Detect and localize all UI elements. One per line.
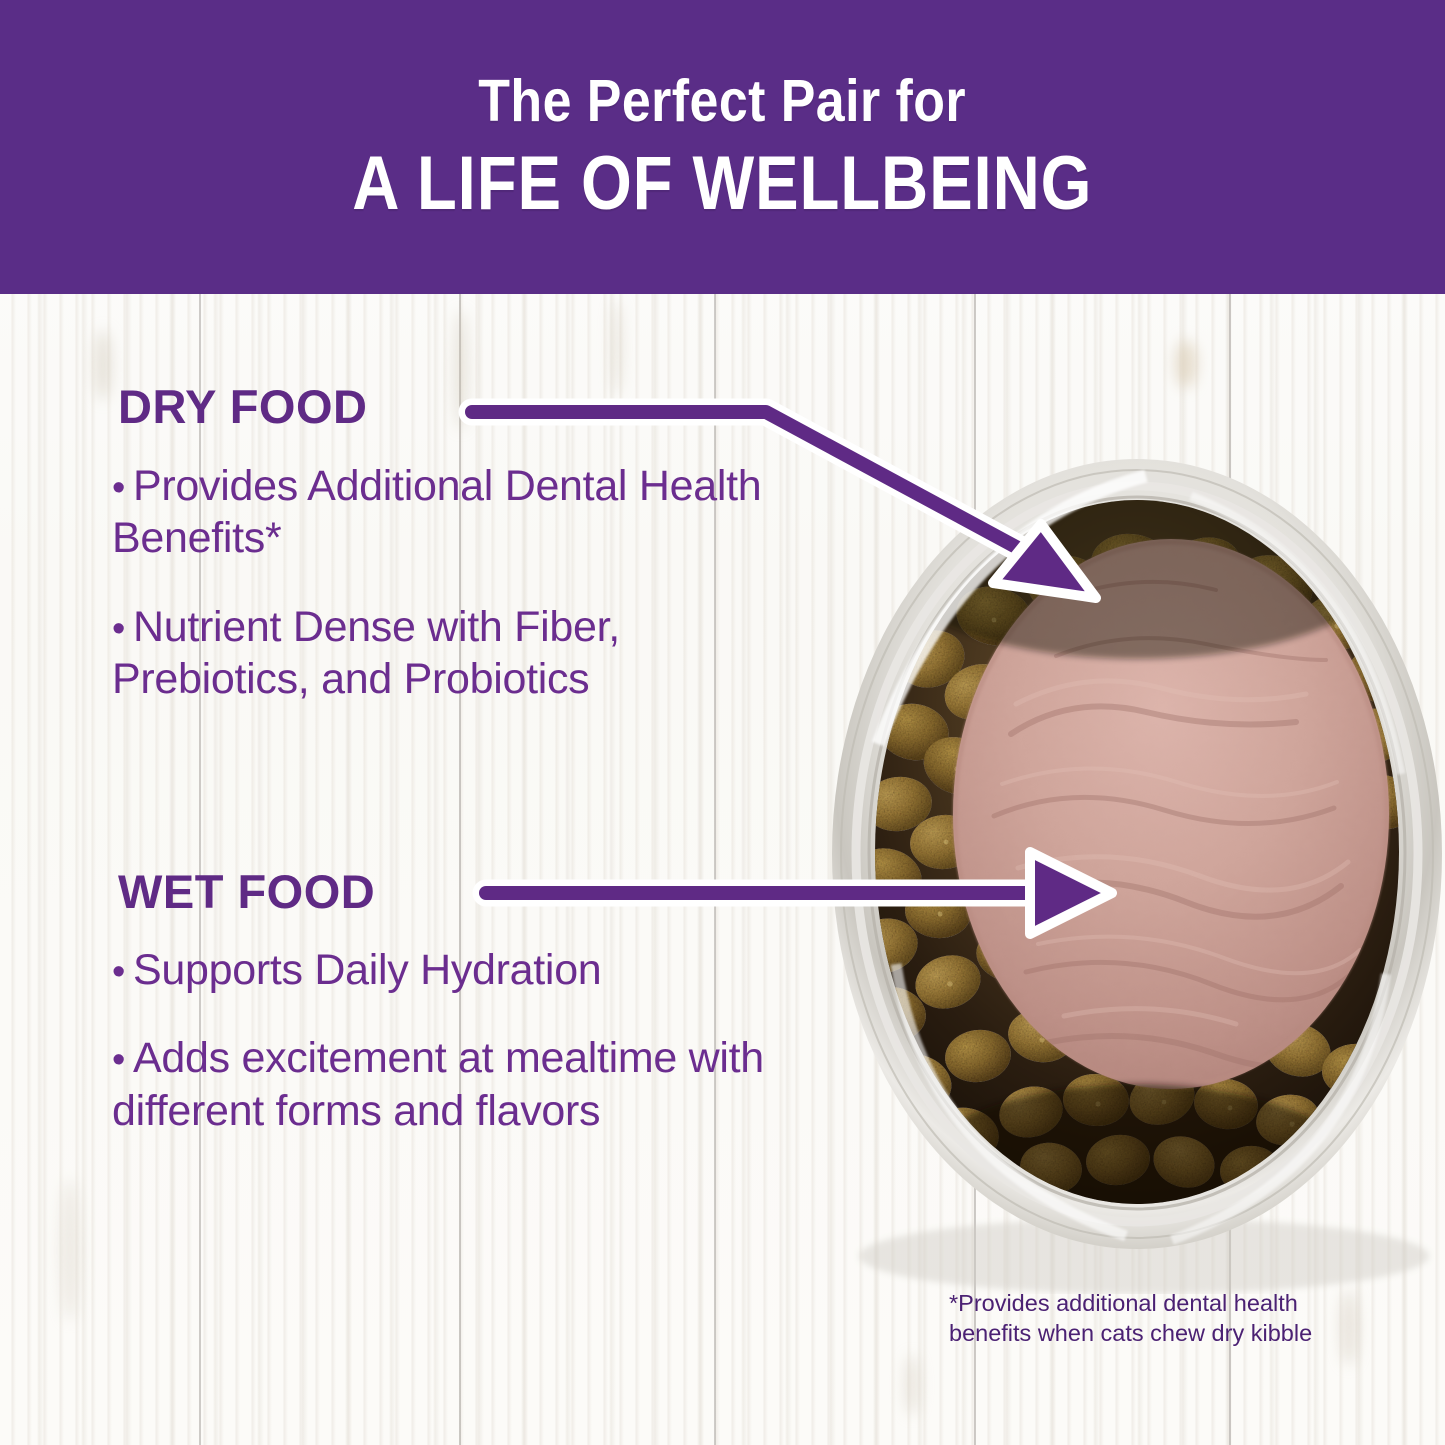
- list-item-label: Provides Additional Dental Health Benefi…: [112, 462, 761, 562]
- list-item-label: Supports Daily Hydration: [133, 946, 601, 994]
- header-banner: The Perfect Pair for A LIFE OF WELLBEING: [0, 0, 1445, 294]
- dry-food-bullet-list: •Provides Additional Dental Health Benef…: [112, 460, 812, 742]
- bullet-dot-icon: •: [112, 1039, 125, 1081]
- header-title-line2: A LIFE OF WELLBEING: [352, 145, 1092, 223]
- header-title-line1: The Perfect Pair for: [479, 71, 967, 131]
- bullet-dot-icon: •: [112, 608, 125, 650]
- wood-grain-mark: [905, 1355, 919, 1415]
- footnote-line1: *Provides additional dental health: [949, 1288, 1379, 1318]
- feature-copy-column: DRY FOOD •Provides Additional Dental Hea…: [0, 294, 840, 1445]
- wet-food-section-title: WET FOOD: [118, 864, 375, 919]
- footnote-line2: benefits when cats chew dry kibble: [949, 1318, 1379, 1348]
- dry-food-section-title: DRY FOOD: [118, 379, 367, 434]
- pet-food-bowl-photo: [826, 444, 1445, 1294]
- wet-food-bullet-list: •Supports Daily Hydration •Adds exciteme…: [112, 944, 812, 1173]
- list-item: •Provides Additional Dental Health Benef…: [112, 460, 812, 565]
- list-item-label: Nutrient Dense with Fiber, Prebiotics, a…: [112, 603, 620, 703]
- list-item: •Supports Daily Hydration: [112, 944, 812, 996]
- list-item-label: Adds excitement at mealtime with differe…: [112, 1034, 764, 1134]
- footnote: *Provides additional dental health benef…: [949, 1288, 1379, 1348]
- bullet-dot-icon: •: [112, 467, 125, 509]
- wood-grain-mark: [1175, 340, 1197, 388]
- list-item: •Adds excitement at mealtime with differ…: [112, 1032, 812, 1137]
- list-item: •Nutrient Dense with Fiber, Prebiotics, …: [112, 601, 812, 706]
- bullet-dot-icon: •: [112, 951, 125, 993]
